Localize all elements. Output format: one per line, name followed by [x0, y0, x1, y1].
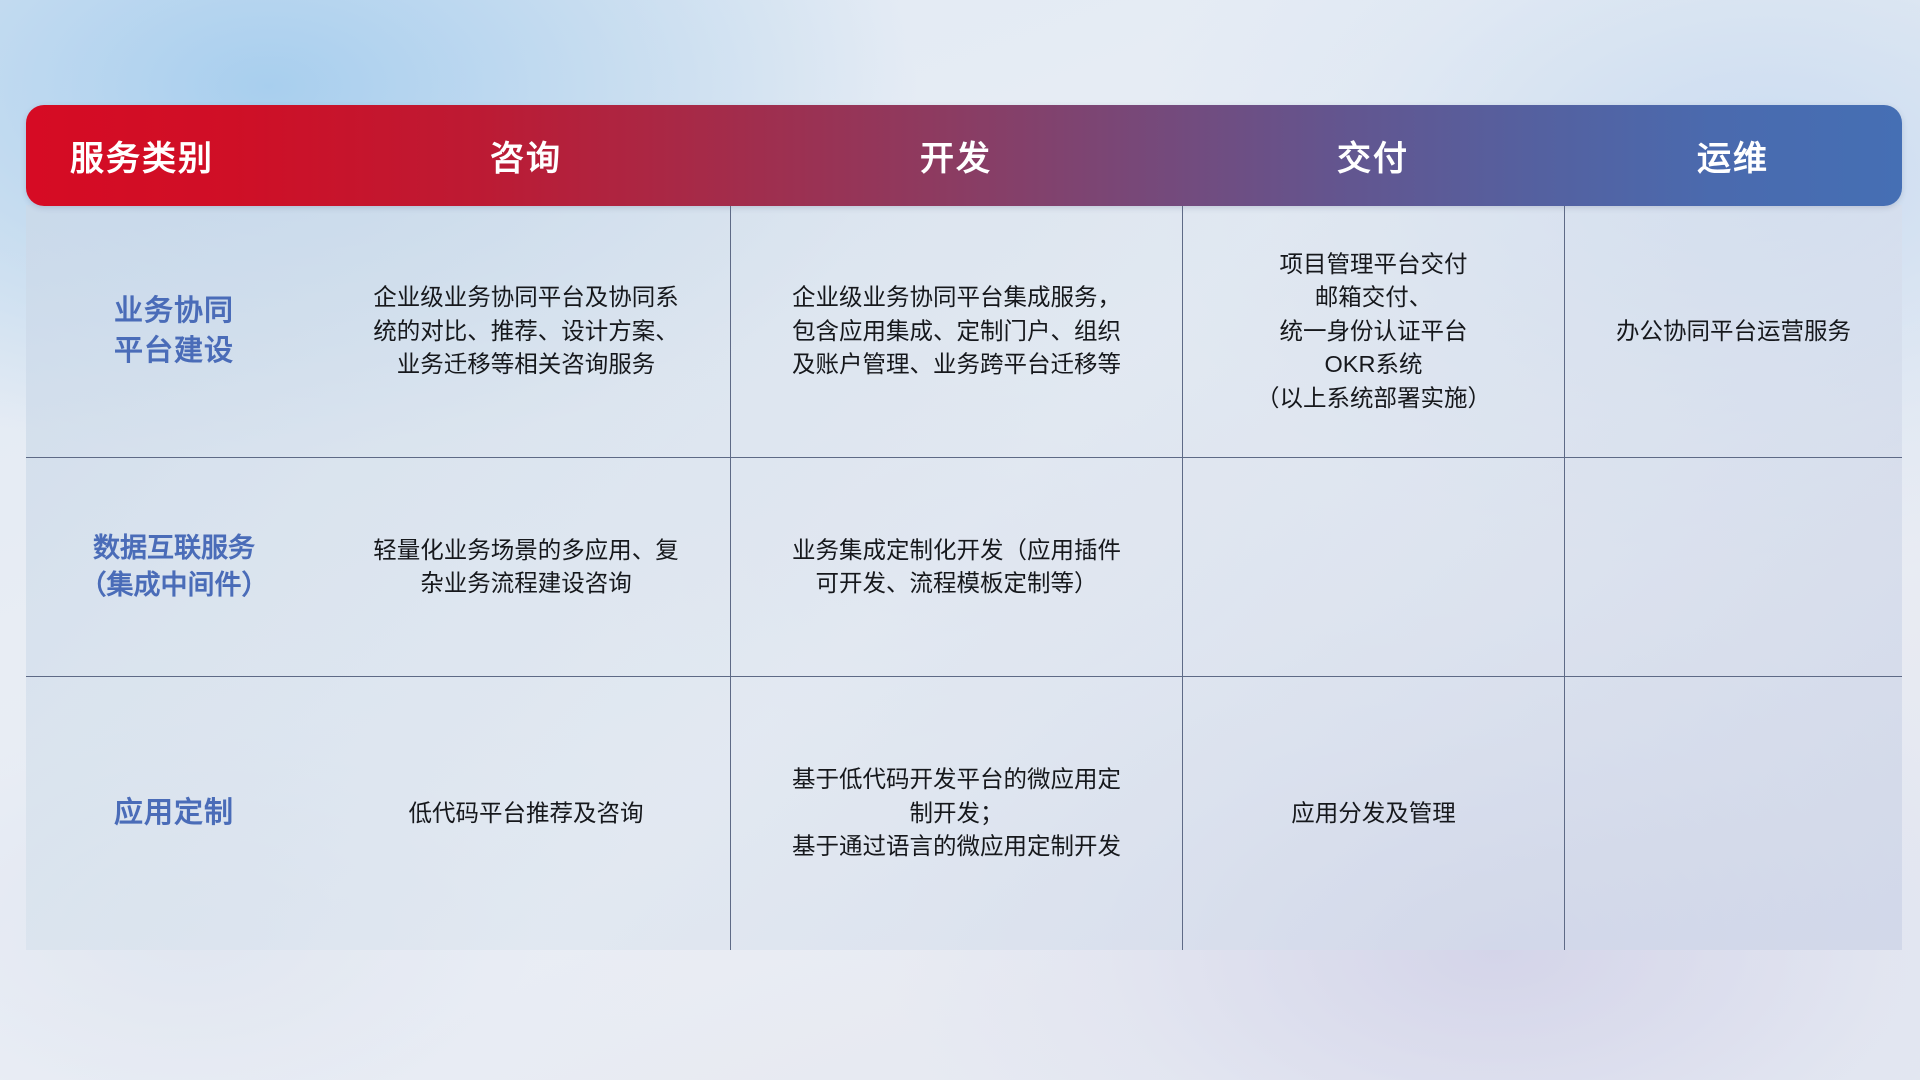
- table-row: 数据互联服务 （集成中间件） 轻量化业务场景的多应用、复 杂业务流程建设咨询 业…: [26, 457, 1902, 676]
- column-header-consulting: 咨询: [322, 131, 730, 180]
- cell-delivery: 应用分发及管理: [1182, 677, 1564, 950]
- cell-development: 基于低代码开发平台的微应用定 制开发； 基于通过语言的微应用定制开发: [730, 677, 1182, 950]
- column-header-service-category: 服务类别: [26, 131, 322, 180]
- cell-operations: [1564, 677, 1902, 950]
- cell-consulting: 企业级业务协同平台及协同系 统的对比、推荐、设计方案、 业务迁移等相关咨询服务: [322, 206, 730, 457]
- cell-operations: [1564, 458, 1902, 676]
- table-header-row: 服务类别 咨询 开发 交付 运维: [26, 105, 1902, 206]
- cell-operations: 办公协同平台运营服务: [1564, 206, 1902, 457]
- cell-development: 业务集成定制化开发（应用插件 可开发、流程模板定制等）: [730, 458, 1182, 676]
- row-label-application-customization: 应用定制: [26, 677, 322, 950]
- column-header-delivery: 交付: [1182, 131, 1564, 180]
- service-category-table: 服务类别 咨询 开发 交付 运维 业务协同 平台建设 企业级业务协同平台及协同系…: [26, 105, 1902, 950]
- row-label-data-interconnection-service: 数据互联服务 （集成中间件）: [26, 458, 322, 676]
- table-row: 业务协同 平台建设 企业级业务协同平台及协同系 统的对比、推荐、设计方案、 业务…: [26, 206, 1902, 457]
- table-card: 服务类别 咨询 开发 交付 运维 业务协同 平台建设 企业级业务协同平台及协同系…: [26, 105, 1902, 950]
- cell-delivery: 项目管理平台交付 邮箱交付、 统一身份认证平台 OKR系统 （以上系统部署实施）: [1182, 206, 1564, 457]
- row-label-business-collaboration-platform: 业务协同 平台建设: [26, 206, 322, 457]
- cell-delivery: [1182, 458, 1564, 676]
- table-row: 应用定制 低代码平台推荐及咨询 基于低代码开发平台的微应用定 制开发； 基于通过…: [26, 676, 1902, 950]
- cell-development: 企业级业务协同平台集成服务， 包含应用集成、定制门户、组织 及账户管理、业务跨平…: [730, 206, 1182, 457]
- column-header-development: 开发: [730, 131, 1182, 180]
- cell-consulting: 轻量化业务场景的多应用、复 杂业务流程建设咨询: [322, 458, 730, 676]
- cell-consulting: 低代码平台推荐及咨询: [322, 677, 730, 950]
- table-body: 业务协同 平台建设 企业级业务协同平台及协同系 统的对比、推荐、设计方案、 业务…: [26, 206, 1902, 950]
- column-header-operations: 运维: [1564, 131, 1902, 180]
